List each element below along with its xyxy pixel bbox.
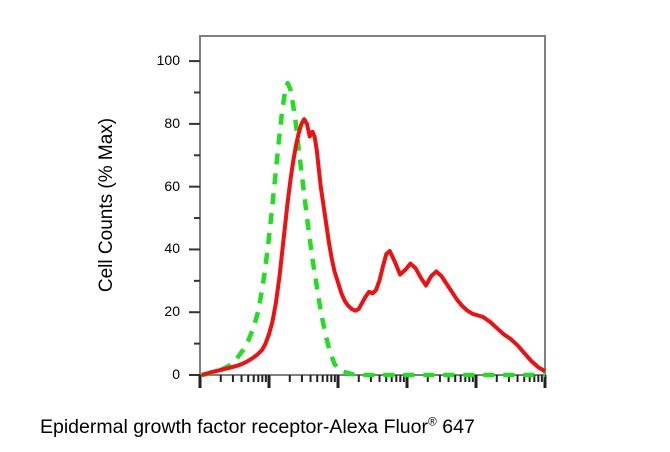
y-tick-label: 60 (146, 178, 180, 194)
y-tick-label: 40 (146, 240, 180, 256)
series-line-egfr-stained (202, 119, 545, 375)
y-tick-label: 20 (146, 303, 180, 319)
y-axis-label: Cell Counts (% Max) (96, 55, 118, 355)
flow-cytometry-figure: Cell Counts (% Max) 020406080100 Epiderm… (0, 0, 670, 452)
y-tick-label: 100 (146, 52, 180, 68)
y-tick-label: 80 (146, 115, 180, 131)
axis-ticks-group (189, 61, 545, 388)
data-series-group (202, 83, 545, 375)
caption-fluorophore-number: 647 (437, 416, 475, 438)
caption-antigen-text: Epidermal growth factor receptor-Alexa F… (40, 416, 428, 438)
y-tick-label: 0 (146, 366, 180, 382)
registered-trademark-icon: ® (428, 415, 437, 429)
series-line-isotype-control (202, 83, 545, 375)
figure-caption: Epidermal growth factor receptor-Alexa F… (40, 416, 640, 439)
